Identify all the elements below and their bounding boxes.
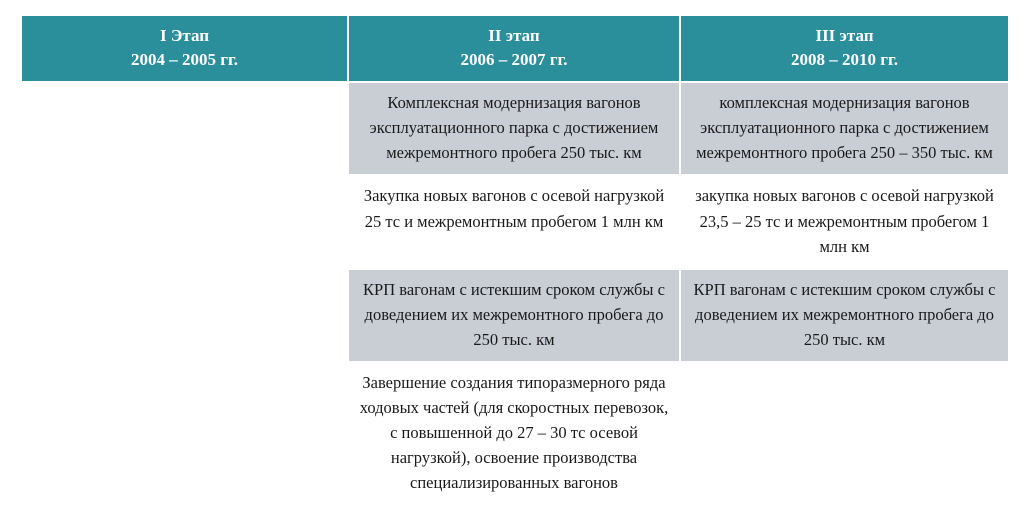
cell-row-rnd-col-3: [681, 363, 1008, 529]
cell-row-modernization-col-3: комплексная модернизация вагонов эксплуа…: [681, 83, 1008, 174]
column-header-stage-3: III этап 2008 – 2010 гг.: [681, 16, 1008, 81]
cell-text: комплексная модернизация вагонов эксплуа…: [689, 90, 1000, 165]
table-row: Модернизация тележек вагонов эксплуатаци…: [22, 83, 1008, 174]
table-row: Закупка вагонов с осевой нагрузкой 23,5 …: [22, 176, 1008, 267]
slide-canvas: I Этап 2004 – 2005 гг. II этап 2006 – 20…: [0, 0, 1028, 519]
cell-row-modernization-col-2: Комплексная модернизация вагонов эксплуа…: [349, 83, 679, 174]
cell-row-modernization-col-1: Модернизация тележек вагонов эксплуатаци…: [22, 83, 347, 174]
table-row: КРП вагонам с истекшим сроком службы с д…: [22, 270, 1008, 361]
cell-row-procurement-col-2: Закупка новых вагонов с осевой нагрузкой…: [349, 176, 679, 267]
cell-text: КРП вагонам с истекшим сроком службы с д…: [689, 277, 1000, 352]
table-header: I Этап 2004 – 2005 гг. II этап 2006 – 20…: [22, 16, 1008, 81]
column-header-stage-2: II этап 2006 – 2007 гг.: [349, 16, 679, 81]
cell-text: закупка новых вагонов с осевой нагрузкой…: [689, 183, 1000, 258]
cell-text: Комплексная модернизация вагонов эксплуа…: [357, 90, 671, 165]
table-header-row: I Этап 2004 – 2005 гг. II этап 2006 – 20…: [22, 16, 1008, 81]
cell-row-rnd-col-2: Завершение создания типоразмерного ряда …: [349, 363, 679, 529]
table-body: Модернизация тележек вагонов эксплуатаци…: [22, 83, 1008, 529]
stage-2-period: 2006 – 2007 гг.: [355, 48, 673, 72]
cell-row-rnd-col-1: НИОКР по созданию основных узлов и матер…: [22, 363, 347, 529]
cell-row-krp-col-1: КРП вагонам с истекшим сроком службы с д…: [22, 270, 347, 361]
stage-3-title: III этап: [687, 24, 1002, 48]
cell-text: Закупка новых вагонов с осевой нагрузкой…: [357, 183, 671, 233]
cell-text: Завершение создания типоразмерного ряда …: [357, 370, 671, 495]
cell-row-procurement-col-1: Закупка вагонов с осевой нагрузкой 23,5 …: [22, 176, 347, 267]
stage-3-period: 2008 – 2010 гг.: [687, 48, 1002, 72]
cell-text: Модернизация тележек вагонов эксплуатаци…: [30, 90, 339, 165]
table-row: НИОКР по созданию основных узлов и матер…: [22, 363, 1008, 529]
cell-row-krp-col-3: КРП вагонам с истекшим сроком службы с д…: [681, 270, 1008, 361]
cell-text: КРП вагонам с истекшим сроком службы с д…: [30, 277, 339, 352]
stage-2-title: II этап: [355, 24, 673, 48]
cell-row-procurement-col-3: закупка новых вагонов с осевой нагрузкой…: [681, 176, 1008, 267]
cell-text: Закупка вагонов с осевой нагрузкой 23,5 …: [30, 183, 339, 258]
cell-text: НИОКР по созданию основных узлов и матер…: [30, 370, 339, 520]
cell-row-krp-col-2: КРП вагонам с истекшим сроком службы с д…: [349, 270, 679, 361]
stage-1-title: I Этап: [28, 24, 341, 48]
stages-comparison-table: I Этап 2004 – 2005 гг. II этап 2006 – 20…: [20, 14, 1010, 531]
column-header-stage-1: I Этап 2004 – 2005 гг.: [22, 16, 347, 81]
stage-1-period: 2004 – 2005 гг.: [28, 48, 341, 72]
cell-text: КРП вагонам с истекшим сроком службы с д…: [357, 277, 671, 352]
